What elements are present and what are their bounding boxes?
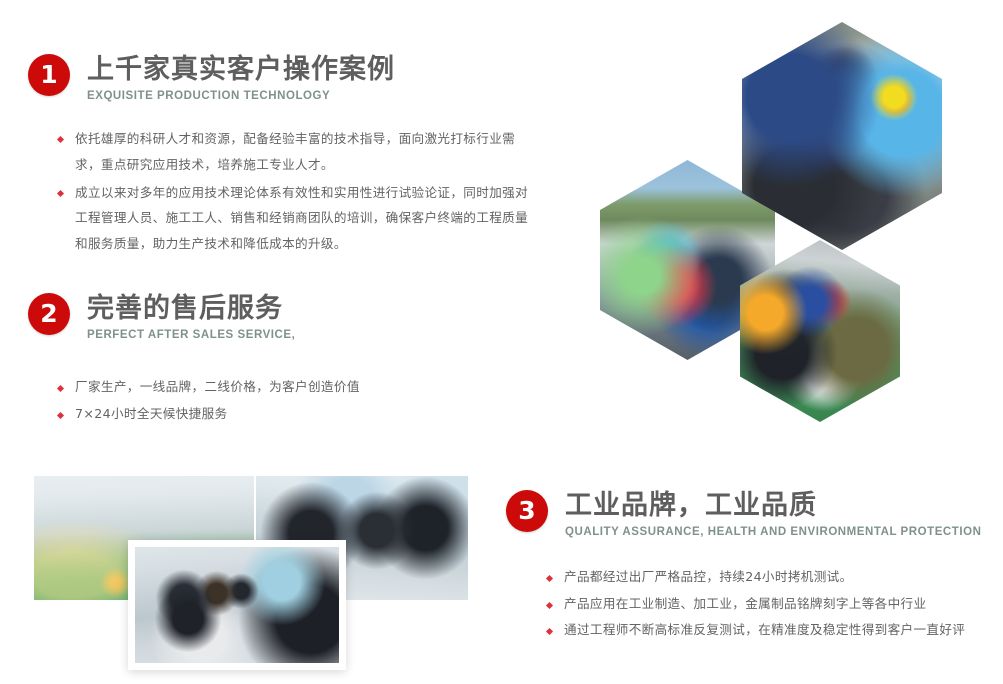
- list-item: 通过工程师不断高标准反复测试，在精准度及稳定性得到客户一直好评: [545, 618, 985, 643]
- section-2-number-badge: 2: [28, 293, 70, 335]
- section-3-title-cn: 工业品牌，工业品质: [565, 491, 981, 521]
- list-item: 依托雄厚的科研人才和资源，配备经验丰富的技术指导，面向激光打标行业需求，重点研究…: [56, 126, 534, 178]
- list-item: 成立以来对多年的应用技术理论体系有效性和实用性进行试验论证，同时加强对工程管理人…: [56, 180, 534, 257]
- section-2-title-en: PERFECT AFTER SALES SERVICE,: [87, 329, 295, 341]
- section-1-bullet-list: 依托雄厚的科研人才和资源，配备经验丰富的技术指导，面向激光打标行业需求，重点研究…: [56, 126, 534, 257]
- section-2-bullet-list: 厂家生产，一线品牌，二线价格，为客户创造价值 7×24小时全天候快捷服务: [56, 375, 516, 426]
- section-1-title-en: EXQUISITE PRODUCTION TECHNOLOGY: [87, 90, 395, 102]
- call-center-image: [135, 547, 339, 663]
- list-item: 产品都经过出厂严格品控，持续24小时拷机测试。: [545, 565, 985, 590]
- section-1-heading: 1 上千家真实客户操作案例 EXQUISITE PRODUCTION TECHN…: [28, 54, 395, 102]
- section-2-heading: 2 完善的售后服务 PERFECT AFTER SALES SERVICE,: [28, 293, 295, 341]
- section-3-number-badge: 3: [506, 490, 548, 532]
- list-item: 产品应用在工业制造、加工业，金属制品铭牌刻字上等各中行业: [545, 592, 985, 617]
- photo-customer-service-call-center: [128, 540, 346, 670]
- promo-page: 1 上千家真实客户操作案例 EXQUISITE PRODUCTION TECHN…: [0, 0, 1003, 684]
- section-1-number-badge: 1: [28, 54, 70, 96]
- section-1-title-cn: 上千家真实客户操作案例: [87, 55, 395, 85]
- section-3-bullet-list: 产品都经过出厂严格品控，持续24小时拷机测试。 产品应用在工业制造、加工业，金属…: [545, 565, 985, 643]
- section-3-heading: 3 工业品牌，工业品质 QUALITY ASSURANCE, HEALTH AN…: [506, 490, 981, 538]
- list-item: 厂家生产，一线品牌，二线价格，为客户创造价值: [56, 375, 516, 400]
- section-3-title-en: QUALITY ASSURANCE, HEALTH AND ENVIRONMEN…: [565, 526, 981, 538]
- section-2-title-cn: 完善的售后服务: [87, 294, 295, 324]
- list-item: 7×24小时全天候快捷服务: [56, 402, 516, 427]
